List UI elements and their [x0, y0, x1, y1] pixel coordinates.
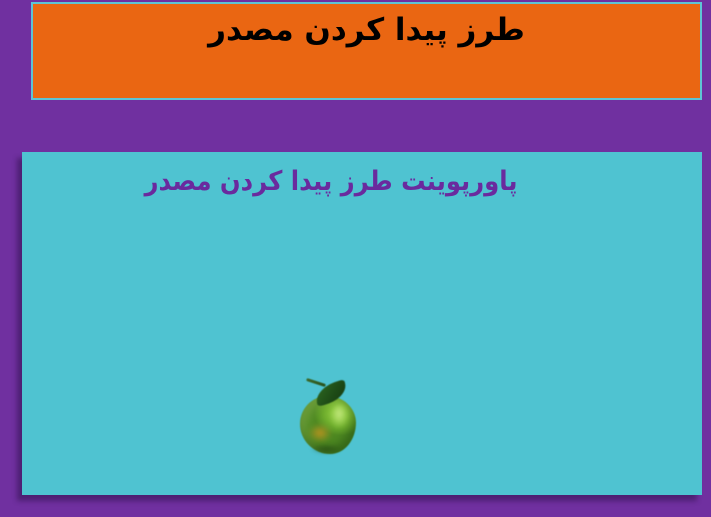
- apple-base-shadow: [311, 444, 341, 454]
- apple-blush: [309, 424, 331, 442]
- header-banner: طرز پیدا کردن مصدر: [31, 2, 702, 100]
- page-title: طرز پیدا کردن مصدر: [208, 10, 525, 52]
- apple-highlight: [331, 405, 347, 427]
- apple-stem: [306, 378, 326, 387]
- slide-canvas: { "slide": { "background_color": "#7030a…: [0, 0, 711, 517]
- green-apple-image: [297, 378, 367, 458]
- panel-title: پاورپوینت طرز پیدا کردن مصدر: [22, 166, 640, 197]
